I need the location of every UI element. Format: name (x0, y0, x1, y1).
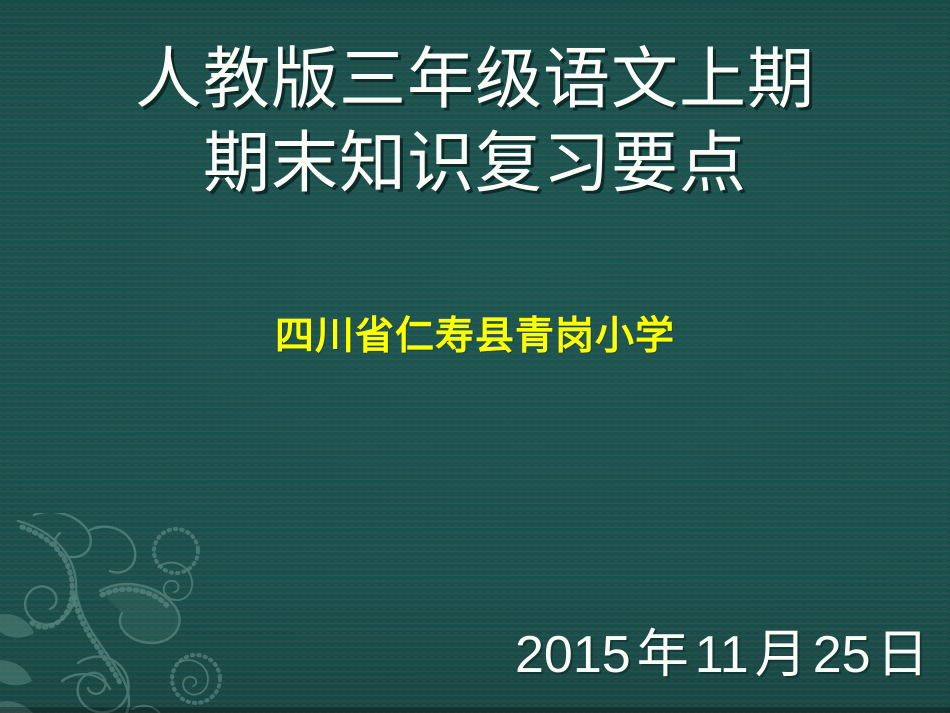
page-title: 人教版三年级语文上期 期末知识复习要点 (0, 38, 950, 206)
date-month-unit: 月 (755, 627, 807, 684)
date-year-unit: 年 (637, 627, 689, 684)
date-year-number: 2015 (515, 626, 631, 684)
date-text: 2015年11月25日 (515, 624, 935, 687)
title-line-2: 期末知识复习要点 (0, 122, 950, 206)
subtitle-school-name: 四川省仁寿县青岗小学 (0, 312, 950, 362)
date-month-number: 11 (695, 626, 749, 684)
date-day-number: 25 (813, 626, 871, 684)
title-line-1: 人教版三年级语文上期 (0, 38, 950, 122)
date-day-unit: 日 (877, 627, 929, 684)
title-slide: 人教版三年级语文上期 期末知识复习要点 四川省仁寿县青岗小学 2015年11月2… (0, 0, 950, 713)
